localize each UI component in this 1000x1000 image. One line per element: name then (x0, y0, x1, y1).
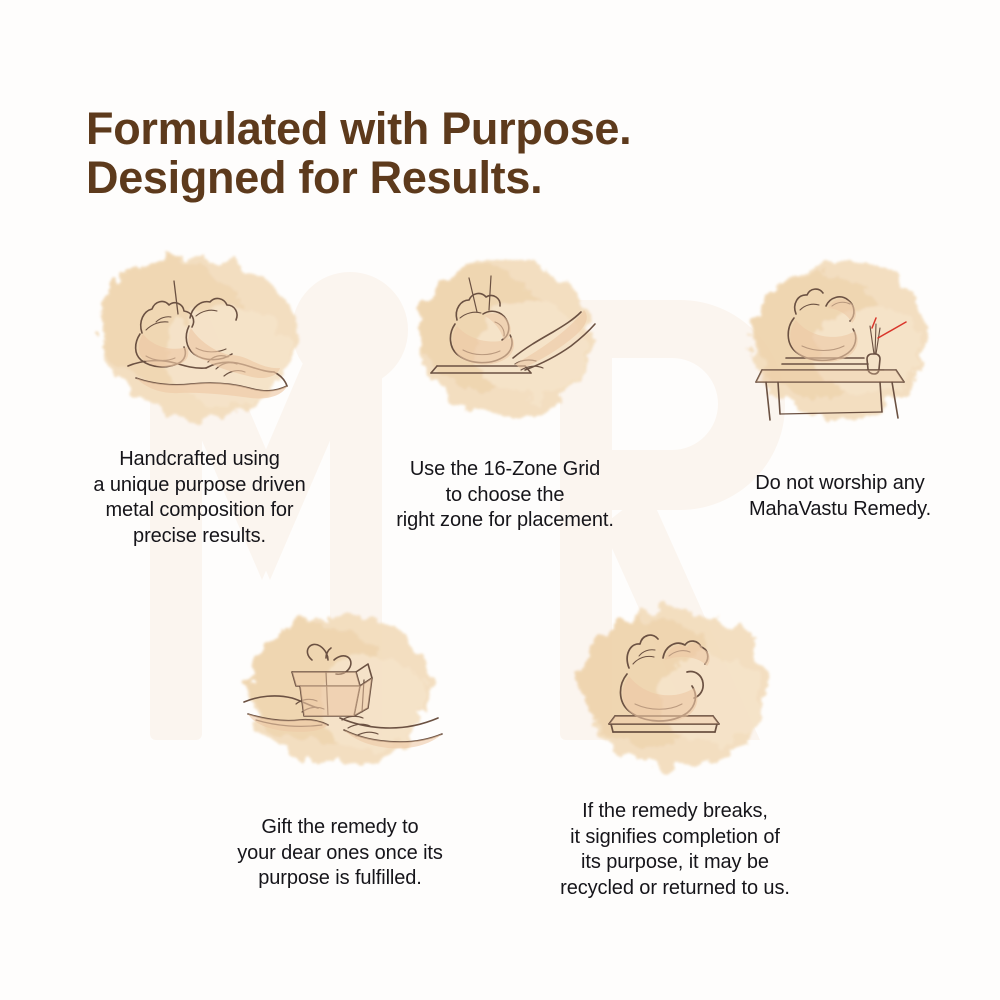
illustration-wrap (355, 240, 655, 435)
feature-card-zone-grid: Use the 16-Zone Grid to choose the right… (355, 240, 655, 534)
infographic-page: Formulated with Purpose. Designed for Re… (0, 0, 1000, 1000)
card-caption: Handcrafted using a unique purpose drive… (93, 447, 305, 549)
idol-on-base-icon (535, 588, 815, 783)
illustration-wrap (515, 588, 835, 783)
hands-exchanging-gift-icon (200, 592, 480, 787)
feature-card-gift: Gift the remedy to your dear ones once i… (190, 592, 490, 892)
feature-card-handcrafted: Handcrafted using a unique purpose drive… (27, 238, 372, 549)
feature-card-no-worship: Do not worship any MahaVastu Remedy. (690, 242, 990, 522)
card-caption: Gift the remedy to your dear ones once i… (237, 815, 443, 892)
page-title: Formulated with Purpose. Designed for Re… (86, 104, 631, 202)
feature-card-broken-remedy: If the remedy breaks, it signifies compl… (515, 588, 835, 901)
illustration-wrap (190, 592, 490, 787)
card-caption: If the remedy breaks, it signifies compl… (560, 799, 790, 901)
hand-placing-idol-icon (365, 240, 645, 435)
illustration-wrap (27, 238, 372, 438)
idol-on-table-with-incense-icon (700, 242, 980, 437)
card-caption: Do not worship any MahaVastu Remedy. (749, 471, 931, 522)
illustration-wrap (690, 242, 990, 437)
hands-crafting-idol-icon (50, 238, 350, 438)
card-caption: Use the 16-Zone Grid to choose the right… (396, 457, 614, 534)
